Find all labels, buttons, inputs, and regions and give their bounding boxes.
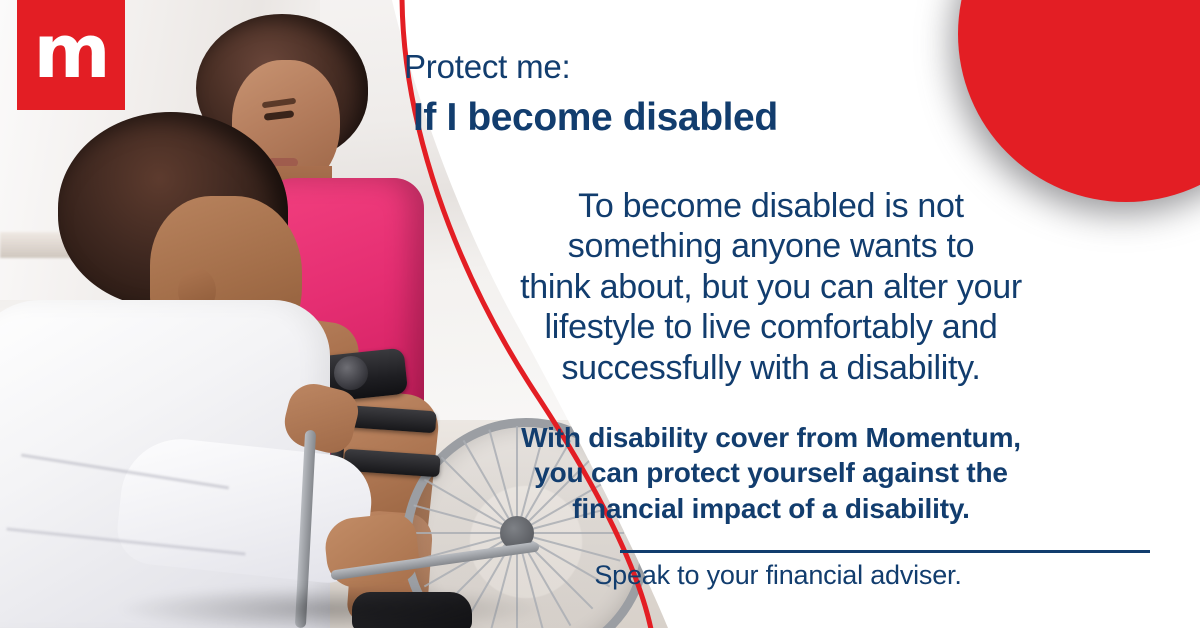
body-line: think about, but you can alter your [386, 267, 1156, 307]
kicker-text: Protect me: [404, 48, 571, 86]
bold-paragraph: With disability cover from Momentum, you… [386, 420, 1156, 526]
momentum-logo[interactable]: m [17, 0, 125, 110]
body-line: successfully with a disability. [386, 348, 1156, 388]
body-paragraph: To become disabled is not something anyo… [386, 186, 1156, 388]
bold-line: you can protect yourself against the [386, 455, 1156, 490]
body-line: something anyone wants to [386, 226, 1156, 266]
momentum-m-logo-icon: m [33, 15, 108, 89]
divider-rule [620, 550, 1150, 553]
body-line: To become disabled is not [386, 186, 1156, 226]
headline-text: If I become disabled [413, 96, 778, 140]
knee-brace-hinge [334, 356, 368, 390]
bold-line: With disability cover from Momentum, [386, 420, 1156, 455]
bold-line: financial impact of a disability. [386, 491, 1156, 526]
body-line: lifestyle to live comfortably and [386, 307, 1156, 347]
advertisement-banner: m Protect me: If I become disabled To be… [0, 0, 1200, 628]
call-to-action-text: Speak to your financial adviser. [386, 560, 1170, 591]
copy-block: Protect me: If I become disabled To beco… [386, 0, 1176, 628]
